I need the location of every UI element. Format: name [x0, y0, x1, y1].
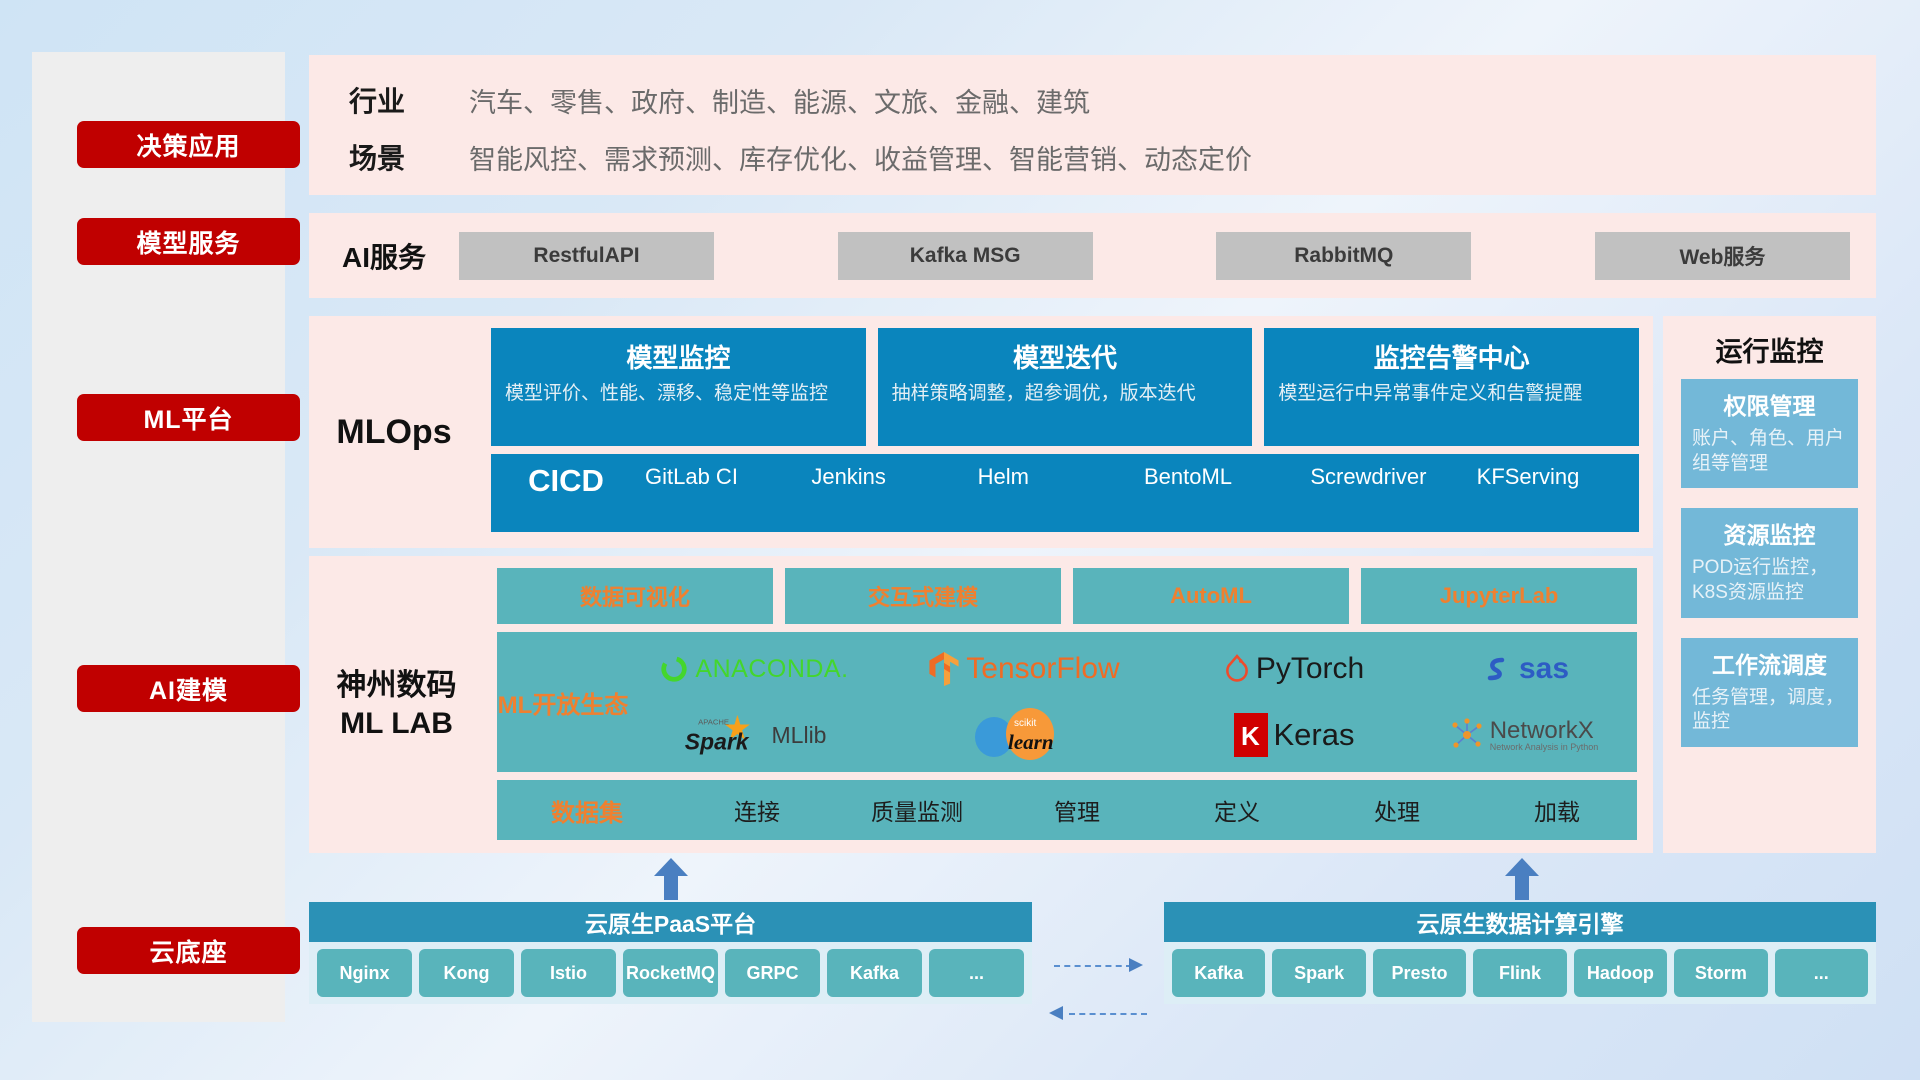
ai-service-label: AI服务 — [309, 236, 459, 276]
paas-tag-kafka[interactable]: Kafka — [827, 949, 922, 997]
arrow-up-data-engine-icon — [1505, 858, 1539, 900]
mllib-text: MLlib — [772, 722, 827, 749]
sas-swirl-icon — [1479, 653, 1513, 685]
anaconda-ring-icon — [659, 654, 689, 684]
ml-open-ecosystem-panel: ML开放生态 ANACONDA. — [497, 632, 1637, 772]
cloud-native-data-engine-tag-list: Kafka Spark Presto Flink Hadoop Storm ..… — [1164, 942, 1876, 1004]
ml-lab-label: 神州数码 ML LAB — [309, 556, 484, 853]
mlops-label: MLOps — [309, 316, 479, 548]
engine-tag-spark[interactable]: Spark — [1272, 949, 1365, 997]
decision-application-band: 行业 汽车、零售、政府、制造、能源、文旅、金融、建筑 场景 智能风控、需求预测、… — [309, 55, 1876, 195]
ml-lab-chip-data-visualization[interactable]: 数据可视化 — [497, 568, 773, 624]
diagram-canvas: 决策应用 模型服务 ML平台 AI建模 云底座 行业 汽车、零售、政府、制造、能… — [0, 0, 1920, 1080]
engine-tag-kafka[interactable]: Kafka — [1172, 949, 1265, 997]
ml-lab-chip-jupyterlab[interactable]: JupyterLab — [1361, 568, 1637, 624]
monitor-card-permission[interactable]: 权限管理 账户、角色、用户组等管理 — [1681, 379, 1858, 488]
dataset-item-process[interactable]: 处理 — [1317, 793, 1477, 827]
networkx-graph-icon — [1450, 718, 1484, 752]
paas-tag-more[interactable]: ... — [929, 949, 1024, 997]
engine-tag-storm[interactable]: Storm — [1674, 949, 1767, 997]
logo-row-1: ANACONDA. TensorFlow — [629, 637, 1629, 701]
anaconda-logo-text: ANACONDA. — [695, 655, 848, 684]
card-title: 模型监控 — [505, 338, 852, 375]
cicd-label: CICD — [491, 463, 641, 499]
cicd-tool-list: GitLab CI Jenkins Helm BentoML Screwdriv… — [641, 463, 1639, 491]
ai-service-chip-kafka-msg[interactable]: Kafka MSG — [838, 232, 1093, 280]
card-title: 资源监控 — [1692, 516, 1847, 550]
cloud-native-data-engine-title: 云原生数据计算引擎 — [1164, 902, 1876, 942]
rail-item-model-service[interactable]: 模型服务 — [77, 218, 300, 265]
dataset-item-define[interactable]: 定义 — [1157, 793, 1317, 827]
card-title: 工作流调度 — [1692, 646, 1847, 680]
card-desc: POD运行监控，K8S资源监控 — [1692, 556, 1847, 605]
ml-lab-chip-automl[interactable]: AutoML — [1073, 568, 1349, 624]
anaconda-logo: ANACONDA. — [629, 654, 879, 684]
cloud-native-paas-tag-list: Nginx Kong Istio RocketMQ GRPC Kafka ... — [309, 942, 1032, 1004]
networkx-logo-text: NetworkX — [1490, 719, 1599, 743]
card-title: 权限管理 — [1692, 387, 1847, 421]
cicd-tool-gitlab-ci[interactable]: GitLab CI — [641, 463, 807, 491]
cloud-base-band: 云原生PaaS平台 Nginx Kong Istio RocketMQ GRPC… — [309, 892, 1876, 1032]
paas-tag-nginx[interactable]: Nginx — [317, 949, 412, 997]
sas-logo: sas — [1419, 652, 1629, 686]
card-desc: 模型运行中异常事件定义和告警提醒 — [1278, 382, 1625, 406]
ml-open-ecosystem-label: ML开放生态 — [497, 685, 629, 720]
logo-row-2: APACHE Spark MLlib scikit learn — [629, 703, 1629, 767]
spark-mllib-logo: APACHE Spark MLlib — [629, 713, 879, 757]
card-desc: 账户、角色、用户组等管理 — [1692, 427, 1847, 476]
cloud-native-data-engine-column: 云原生数据计算引擎 Kafka Spark Presto Flink Hadoo… — [1164, 902, 1876, 1004]
engine-tag-presto[interactable]: Presto — [1373, 949, 1466, 997]
dataset-item-connect[interactable]: 连接 — [677, 793, 837, 827]
tensorflow-logo-text: TensorFlow — [966, 652, 1119, 686]
tensorflow-logo: TensorFlow — [879, 652, 1169, 686]
tensorflow-mark-icon — [928, 652, 960, 686]
engine-tag-flink[interactable]: Flink — [1473, 949, 1566, 997]
paas-tag-istio[interactable]: Istio — [521, 949, 616, 997]
card-title: 监控告警中心 — [1278, 338, 1625, 375]
dataset-item-manage[interactable]: 管理 — [997, 793, 1157, 827]
scenario-label: 场景 — [349, 137, 469, 177]
ai-service-chip-restfulapi[interactable]: RestfulAPI — [459, 232, 714, 280]
rail-item-decision-app[interactable]: 决策应用 — [77, 121, 300, 168]
industry-row: 行业 汽车、零售、政府、制造、能源、文旅、金融、建筑 — [349, 80, 1090, 120]
scikit-learn-logo: scikit learn — [879, 707, 1169, 763]
card-title: 模型迭代 — [892, 338, 1239, 375]
pytorch-logo: PyTorch — [1169, 652, 1419, 686]
dataset-row: 数据集 连接 质量监测 管理 定义 处理 加载 — [497, 780, 1637, 840]
arrow-up-paas-icon — [654, 858, 688, 900]
runtime-monitor-panel: 运行监控 权限管理 账户、角色、用户组等管理 资源监控 POD运行监控，K8S资… — [1663, 316, 1876, 853]
card-desc: 任务管理，调度，监控 — [1692, 686, 1847, 735]
connector-arrow-right-icon — [1129, 957, 1147, 975]
scenario-value: 智能风控、需求预测、库存优化、收益管理、智能营销、动态定价 — [469, 138, 1252, 177]
paas-tag-grpc[interactable]: GRPC — [725, 949, 820, 997]
dataset-label: 数据集 — [497, 793, 677, 828]
dataset-item-quality[interactable]: 质量监测 — [837, 793, 997, 827]
monitor-card-resource[interactable]: 资源监控 POD运行监控，K8S资源监控 — [1681, 508, 1858, 617]
connector-dash-left — [1069, 1013, 1147, 1015]
pytorch-logo-text: PyTorch — [1256, 652, 1364, 686]
engine-tag-more[interactable]: ... — [1775, 949, 1868, 997]
keras-logo: K Keras — [1169, 713, 1419, 757]
cicd-tool-helm[interactable]: Helm — [974, 463, 1140, 491]
card-desc: 模型评价、性能、漂移、稳定性等监控 — [505, 382, 852, 406]
mlops-card-model-monitoring[interactable]: 模型监控 模型评价、性能、漂移、稳定性等监控 — [491, 328, 866, 446]
ai-service-chip-web[interactable]: Web服务 — [1595, 232, 1850, 280]
cloud-native-paas-column: 云原生PaaS平台 Nginx Kong Istio RocketMQ GRPC… — [309, 902, 1032, 1004]
sas-logo-text: sas — [1519, 652, 1569, 686]
connector-dash-right — [1054, 965, 1132, 967]
runtime-monitor-title: 运行监控 — [1663, 316, 1876, 379]
cicd-tool-screwdriver[interactable]: Screwdriver — [1306, 463, 1472, 491]
connector-arrow-left-icon — [1047, 1005, 1065, 1023]
rail-item-ai-modeling[interactable]: AI建模 — [77, 665, 300, 712]
ml-lab-band: 神州数码 ML LAB 数据可视化 交互式建模 AutoML JupyterLa… — [309, 556, 1653, 853]
svg-text:scikit: scikit — [1014, 718, 1036, 729]
mlops-card-model-iteration[interactable]: 模型迭代 抽样策略调整，超参调优，版本迭代 — [878, 328, 1253, 446]
svg-text:learn: learn — [1008, 730, 1054, 754]
paas-tag-rocketmq[interactable]: RocketMQ — [623, 949, 718, 997]
pytorch-flame-icon — [1224, 654, 1250, 684]
ml-lab-chip-list: 数据可视化 交互式建模 AutoML JupyterLab — [497, 568, 1637, 624]
svg-text:Spark: Spark — [684, 728, 749, 754]
rail-item-cloud-base[interactable]: 云底座 — [77, 927, 300, 974]
scenario-row: 场景 智能风控、需求预测、库存优化、收益管理、智能营销、动态定价 — [349, 137, 1252, 177]
layer-rail: 决策应用 模型服务 ML平台 AI建模 云底座 — [32, 52, 285, 1022]
keras-mark-icon: K — [1234, 713, 1268, 757]
industry-label: 行业 — [349, 80, 469, 120]
dataset-item-list: 连接 质量监测 管理 定义 处理 加载 — [677, 793, 1637, 827]
mlops-card-list: 模型监控 模型评价、性能、漂移、稳定性等监控 模型迭代 抽样策略调整，超参调优，… — [491, 328, 1639, 446]
ai-service-chip-rabbitmq[interactable]: RabbitMQ — [1216, 232, 1471, 280]
rail-item-ml-platform[interactable]: ML平台 — [77, 394, 300, 441]
cicd-row: CICD GitLab CI Jenkins Helm BentoML Scre… — [491, 454, 1639, 532]
card-desc: 抽样策略调整，超参调优，版本迭代 — [892, 382, 1239, 406]
cicd-tool-bentoml[interactable]: BentoML — [1140, 463, 1306, 491]
svg-text:K: K — [1241, 721, 1260, 751]
networkx-logo: NetworkX Network Analysis in Python — [1419, 718, 1629, 752]
ml-lab-chip-interactive-modeling[interactable]: 交互式建模 — [785, 568, 1061, 624]
paas-tag-kong[interactable]: Kong — [419, 949, 514, 997]
ml-lab-label-line2: ML LAB — [340, 705, 453, 743]
industry-value: 汽车、零售、政府、制造、能源、文旅、金融、建筑 — [469, 81, 1090, 120]
keras-logo-text: Keras — [1274, 717, 1355, 753]
cicd-tool-jenkins[interactable]: Jenkins — [807, 463, 973, 491]
logo-grid: ANACONDA. TensorFlow — [629, 637, 1637, 767]
mlops-band: MLOps 模型监控 模型评价、性能、漂移、稳定性等监控 模型迭代 抽样策略调整… — [309, 316, 1653, 548]
networkx-logo-subtext: Network Analysis in Python — [1490, 743, 1599, 752]
svg-text:APACHE: APACHE — [698, 717, 729, 726]
ai-service-chip-list: RestfulAPI Kafka MSG RabbitMQ Web服务 — [459, 232, 1876, 280]
dataset-item-load[interactable]: 加载 — [1477, 793, 1637, 827]
monitor-card-workflow[interactable]: 工作流调度 任务管理，调度，监控 — [1681, 638, 1858, 747]
apache-spark-icon: APACHE Spark — [682, 713, 766, 757]
engine-tag-hadoop[interactable]: Hadoop — [1574, 949, 1667, 997]
scikit-learn-icon: scikit learn — [968, 707, 1080, 763]
ml-lab-label-line1: 神州数码 — [337, 667, 457, 705]
cicd-tool-kfserving[interactable]: KFServing — [1473, 463, 1639, 491]
cloud-native-paas-title: 云原生PaaS平台 — [309, 902, 1032, 942]
mlops-card-alert-center[interactable]: 监控告警中心 模型运行中异常事件定义和告警提醒 — [1264, 328, 1639, 446]
ai-service-band: AI服务 RestfulAPI Kafka MSG RabbitMQ Web服务 — [309, 213, 1876, 298]
